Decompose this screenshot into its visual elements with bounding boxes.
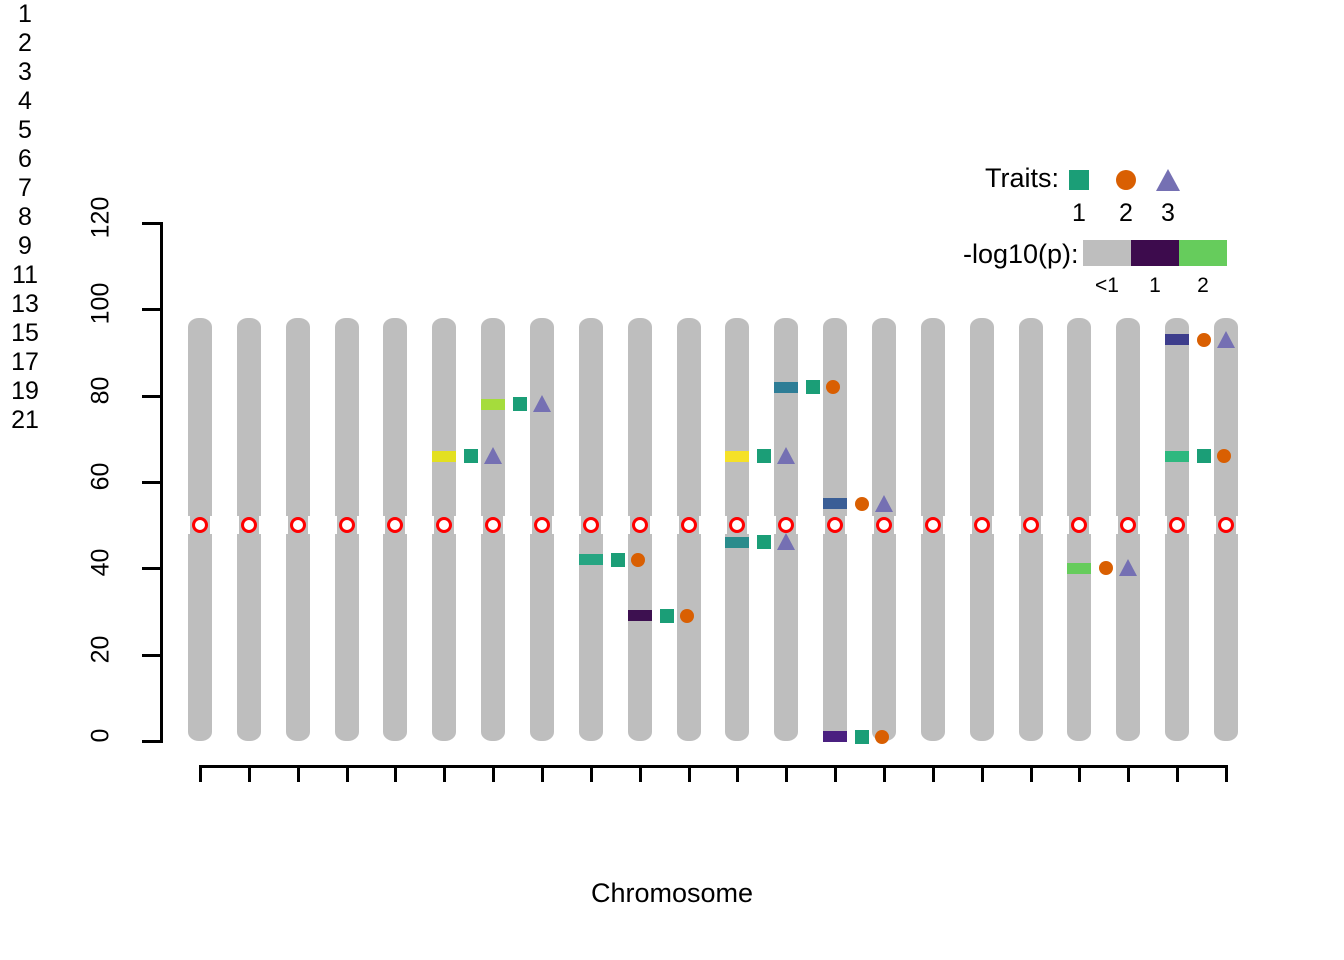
log10p-scale-segment bbox=[1179, 240, 1227, 266]
log10p-scale-segment bbox=[1131, 240, 1179, 266]
chromosome-phenogram-plot: Positions (Mbp) Chromosome 0204060801001… bbox=[0, 0, 1344, 960]
log10p-scale-legend: -log10(p):<112 bbox=[0, 0, 1344, 960]
log10p-legend-label: -log10(p): bbox=[963, 239, 1079, 270]
log10p-scale-tick-label: 2 bbox=[1175, 274, 1231, 298]
log10p-scale-segment bbox=[1083, 240, 1131, 266]
